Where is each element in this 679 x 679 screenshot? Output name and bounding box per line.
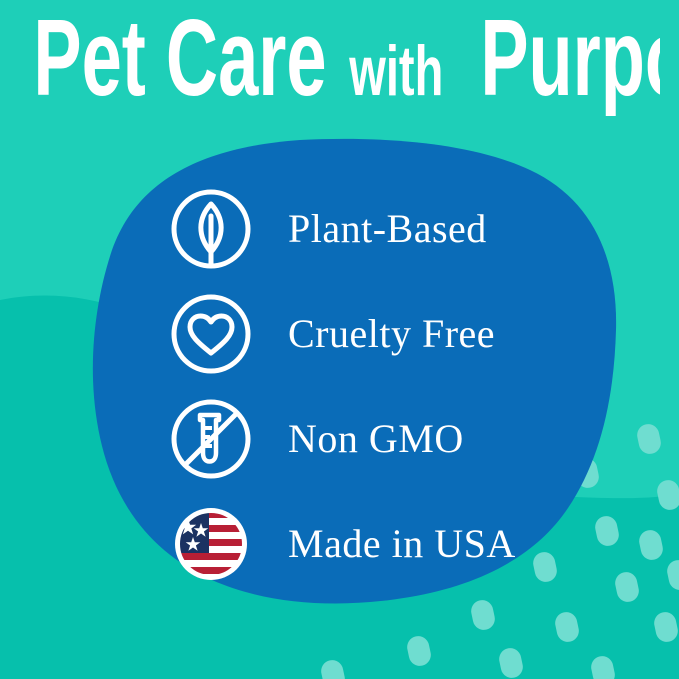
feature-label-made-in-usa: Made in USA: [288, 524, 516, 564]
feature-row-cruelty-free: Cruelty Free: [168, 281, 588, 386]
no-gmo-icon: [168, 396, 254, 482]
feature-row-non-gmo: Non GMO: [168, 386, 588, 491]
feature-row-made-in-usa: Made in USA: [168, 491, 588, 596]
heart-icon: [168, 291, 254, 377]
leaf-icon: [168, 186, 254, 272]
feature-label-plant-based: Plant-Based: [288, 209, 487, 249]
pet-care-banner: Pet Care with Purpose ® Plant-Based Crue…: [0, 0, 679, 679]
feature-list: Plant-Based Cruelty Free Non GMO: [168, 176, 588, 596]
feature-label-non-gmo: Non GMO: [288, 419, 464, 459]
feature-label-cruelty-free: Cruelty Free: [288, 314, 495, 354]
usa-flag-icon: [168, 501, 254, 587]
feature-row-plant-based: Plant-Based: [168, 176, 588, 281]
